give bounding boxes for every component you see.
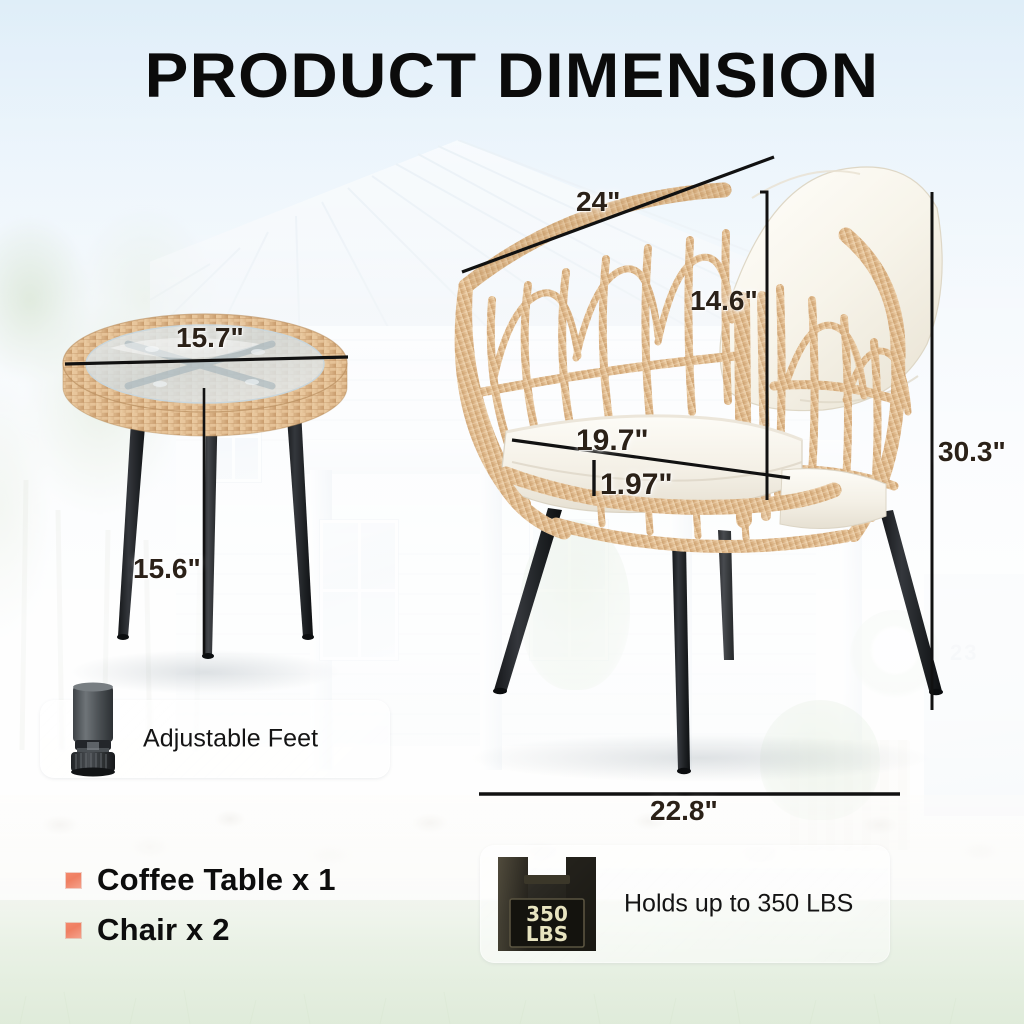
- bullet-square-icon: [66, 923, 81, 938]
- adjustable-feet-label: Adjustable Feet: [143, 725, 318, 754]
- list-item: Chair x 2: [66, 912, 486, 948]
- dimension-label-table-diameter: 15.7": [176, 322, 244, 354]
- weight-capacity-label: Holds up to 350 LBS: [624, 890, 853, 919]
- dimension-label-cushion-thickness: 1.97": [600, 468, 673, 502]
- dimension-label-chair-width: 22.8": [650, 795, 718, 827]
- dimension-label-seat-width: 19.7": [576, 424, 649, 458]
- dimension-label-chair-total-height: 30.3": [938, 436, 1006, 468]
- weight-block-icon: 350 LBS: [494, 853, 600, 955]
- dimension-label-table-height: 15.6": [133, 553, 201, 585]
- package-item-label: Chair x 2: [97, 912, 230, 948]
- bullet-square-icon: [66, 873, 81, 888]
- adjustable-feet-panel: Adjustable Feet: [40, 700, 390, 778]
- list-item: Coffee Table x 1: [66, 862, 486, 898]
- adjustable-foot-icon: [65, 682, 123, 778]
- dimline-15-7: [65, 357, 348, 364]
- infographic-canvas: 23 PRODUCT DIMENSION: [0, 0, 1024, 1024]
- dimline-14-6: [760, 192, 767, 500]
- weight-block-value-2: LBS: [526, 922, 568, 946]
- dimension-label-chair-depth: 24": [576, 186, 620, 218]
- package-item-label: Coffee Table x 1: [97, 862, 336, 898]
- dimension-label-chair-back-height: 14.6": [690, 285, 758, 317]
- weight-capacity-panel: 350 LBS Holds up to 350 LBS: [480, 845, 890, 963]
- package-contents-list: Coffee Table x 1 Chair x 2: [66, 862, 486, 962]
